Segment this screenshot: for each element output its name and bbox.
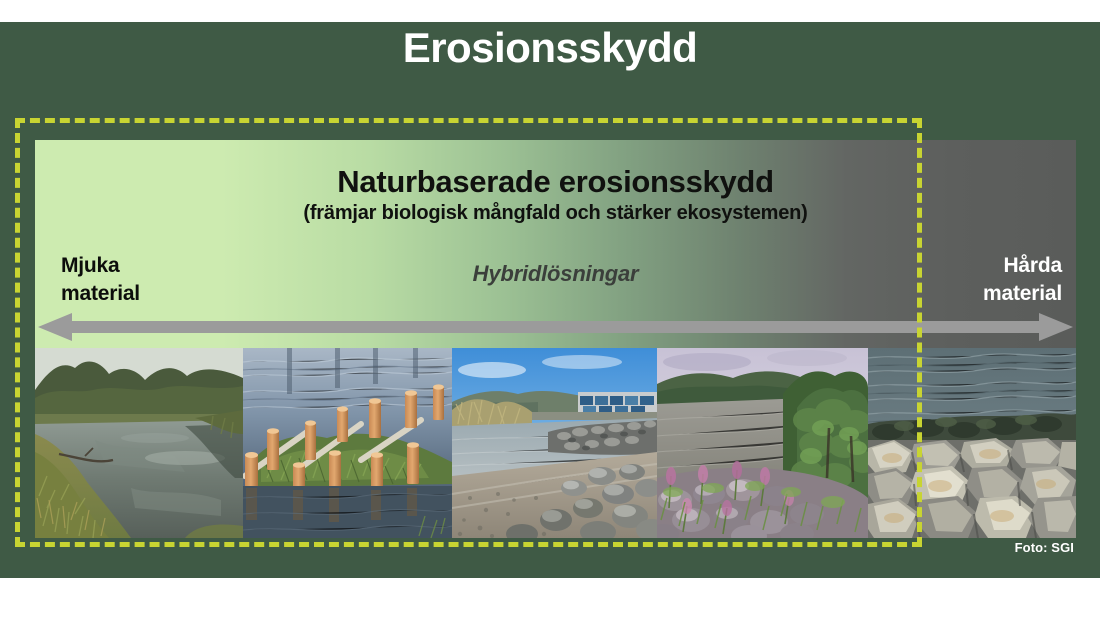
photo-strip	[35, 348, 1076, 538]
hybrid-solutions-label: Hybridlösningar	[35, 261, 1076, 287]
photo-gravel-stone-shore-harbour	[452, 348, 657, 538]
hard-material-label-line2: material	[983, 280, 1062, 308]
page-title: Erosionsskydd	[0, 26, 1100, 70]
slide-root: Erosionsskydd Naturbaserade erosionsskyd…	[0, 0, 1100, 618]
photo-vegetated-stone-riverbank	[657, 348, 868, 538]
hard-material-label-line1: Hårda	[983, 252, 1062, 280]
photo-large-rock-armour-coast	[868, 348, 1076, 538]
soft-to-hard-arrow	[38, 312, 1073, 342]
hard-material-label: Hårda material	[983, 252, 1062, 307]
photo-credit: Foto: SGI	[1015, 540, 1074, 555]
photo-wooden-stakes-brush-bundles	[243, 348, 452, 538]
band-subheading: (främjar biologisk mångfald och stärker …	[35, 202, 1076, 225]
band-heading: Naturbaserade erosionsskydd	[35, 164, 1076, 200]
material-gradient-band: Naturbaserade erosionsskydd (främjar bio…	[35, 140, 1076, 348]
photo-natural-stream-vegetated-bank	[35, 348, 243, 538]
